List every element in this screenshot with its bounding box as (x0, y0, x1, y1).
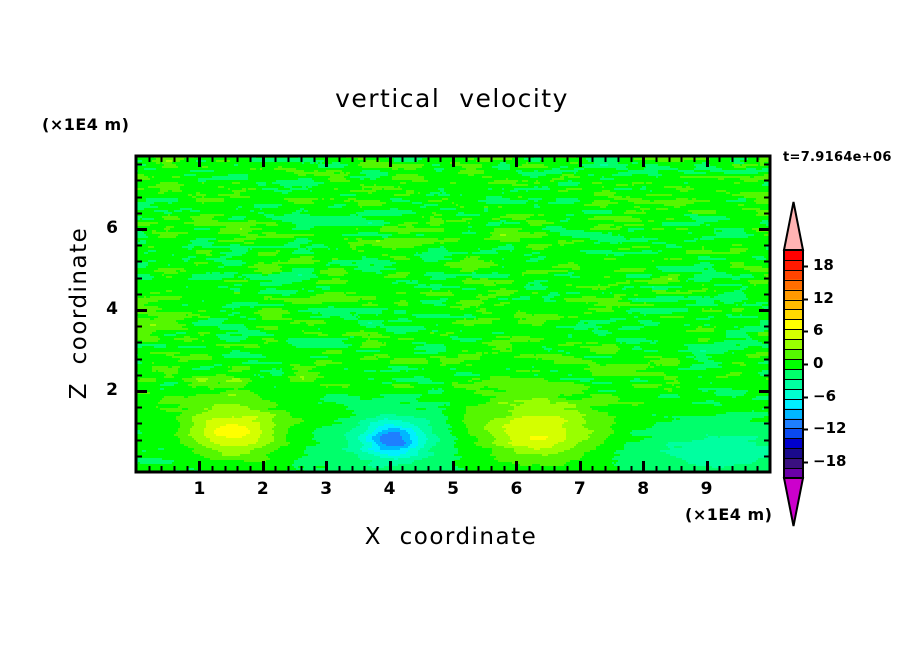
colorbar-tick-label: 12 (813, 289, 834, 307)
y-tick-label: 6 (84, 218, 118, 238)
colorbar-tick-label: 18 (813, 256, 834, 274)
x-tick-label: 3 (306, 479, 346, 499)
colorbar-tick-label: −18 (813, 452, 846, 470)
x-tick-label: 5 (433, 479, 473, 499)
contour-plot (0, 0, 904, 654)
colorbar-tick-label: 0 (813, 354, 823, 372)
x-tick-label: 6 (496, 479, 536, 499)
y-tick-label: 2 (84, 380, 118, 400)
colorbar-tick-label: 6 (813, 321, 823, 339)
x-tick-label: 2 (243, 479, 283, 499)
colorbar-tick-label: −12 (813, 419, 846, 437)
colorbar[interactable] (784, 202, 808, 526)
figure-canvas: vertical velocity (×1E4 m) (×1E4 m) t=7.… (0, 0, 904, 654)
x-tick-label: 1 (179, 479, 219, 499)
x-tick-label: 4 (370, 479, 410, 499)
x-tick-label: 7 (560, 479, 600, 499)
colorbar-tick-label: −6 (813, 387, 836, 405)
x-tick-label: 9 (687, 479, 727, 499)
contour-field (136, 156, 770, 472)
x-tick-label: 8 (623, 479, 663, 499)
y-tick-label: 4 (84, 299, 118, 319)
